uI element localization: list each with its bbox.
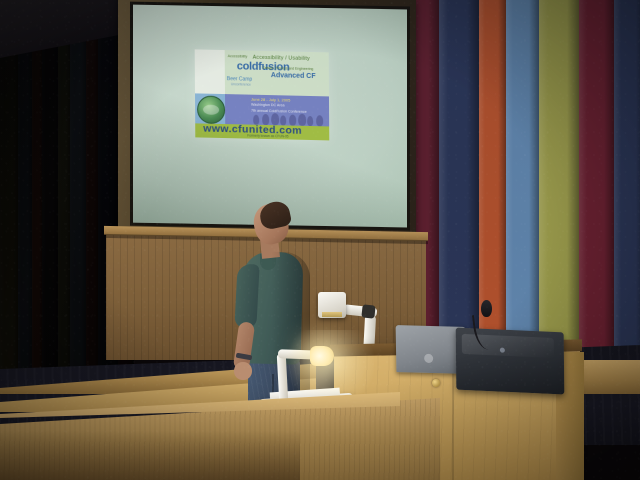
curtain-stripe <box>32 0 42 372</box>
laptop-logo <box>424 354 433 363</box>
microphone-neck <box>472 313 494 351</box>
podium-lock <box>432 379 440 387</box>
projector-lamp <box>310 346 334 366</box>
curtain-stripe <box>18 0 32 372</box>
podium-panel-seam <box>452 356 454 480</box>
screen-light-falloff <box>133 5 407 228</box>
curtain-stripe <box>539 0 580 352</box>
curtain-stripe <box>42 0 58 372</box>
document-camera-lens <box>322 312 342 317</box>
gooseneck-microphone <box>470 300 502 350</box>
curtain-stripe <box>506 0 539 352</box>
projector-column <box>277 354 288 402</box>
microphone-head <box>481 300 492 317</box>
curtain-stripe <box>579 0 614 352</box>
projection-screen: Accessibility Accessibility / Usability … <box>133 5 407 228</box>
projection-screen-bezel: Accessibility Accessibility / Usability … <box>130 2 410 231</box>
stage-curtains-right <box>404 0 640 352</box>
foreground-shadow <box>0 430 300 480</box>
lecture-hall-photo: Accessibility Accessibility / Usability … <box>0 0 640 480</box>
curtain-stripe <box>70 0 86 372</box>
curtain-stripe <box>614 0 640 352</box>
curtain-stripe <box>86 0 98 372</box>
document-camera-joint <box>361 304 375 318</box>
curtain-stripe <box>58 0 70 372</box>
